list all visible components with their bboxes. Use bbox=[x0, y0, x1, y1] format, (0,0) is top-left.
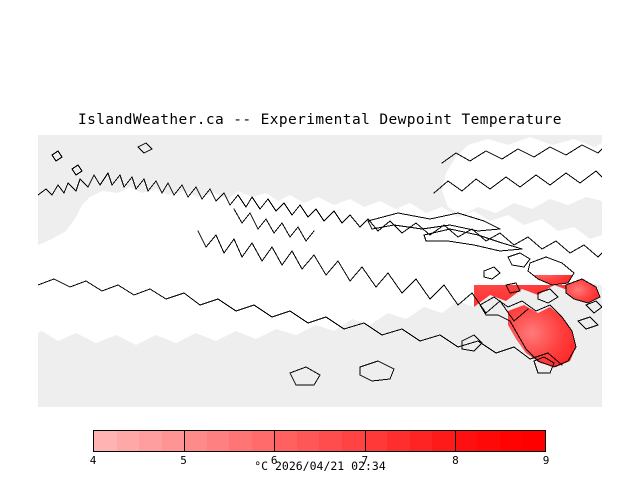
weather-map-figure: IslandWeather.ca -- Experimental Dewpoin… bbox=[0, 0, 640, 480]
colorbar-band bbox=[139, 431, 162, 451]
colorbar-tick bbox=[365, 430, 366, 452]
colorbar-band bbox=[522, 431, 545, 451]
colorbar-tick bbox=[274, 430, 275, 452]
colorbar-band bbox=[252, 431, 275, 451]
map-panel bbox=[38, 135, 602, 407]
colorbar-band bbox=[455, 431, 478, 451]
colorbar-gradient bbox=[93, 430, 546, 452]
colorbar-band bbox=[297, 431, 320, 451]
colorbar-band bbox=[410, 431, 433, 451]
colorbar-band bbox=[342, 431, 365, 451]
colorbar-band bbox=[365, 431, 388, 451]
colorbar-band bbox=[229, 431, 252, 451]
colorbar: 456789 bbox=[93, 430, 546, 452]
colorbar-band bbox=[387, 431, 410, 451]
colorbar-band bbox=[319, 431, 342, 451]
colorbar-tick bbox=[184, 430, 185, 452]
colorbar-band bbox=[477, 431, 500, 451]
colorbar-band bbox=[432, 431, 455, 451]
colorbar-caption: °C 2026/04/21 02:34 bbox=[0, 459, 640, 473]
colorbar-tick bbox=[455, 430, 456, 452]
colorbar-band bbox=[500, 431, 523, 451]
colorbar-band bbox=[207, 431, 230, 451]
colorbar-band bbox=[274, 431, 297, 451]
colorbar-band bbox=[162, 431, 185, 451]
page-title: IslandWeather.ca -- Experimental Dewpoin… bbox=[0, 112, 640, 128]
colorbar-band bbox=[117, 431, 140, 451]
colorbar-band bbox=[184, 431, 207, 451]
colorbar-band bbox=[94, 431, 117, 451]
map-svg bbox=[38, 135, 602, 407]
